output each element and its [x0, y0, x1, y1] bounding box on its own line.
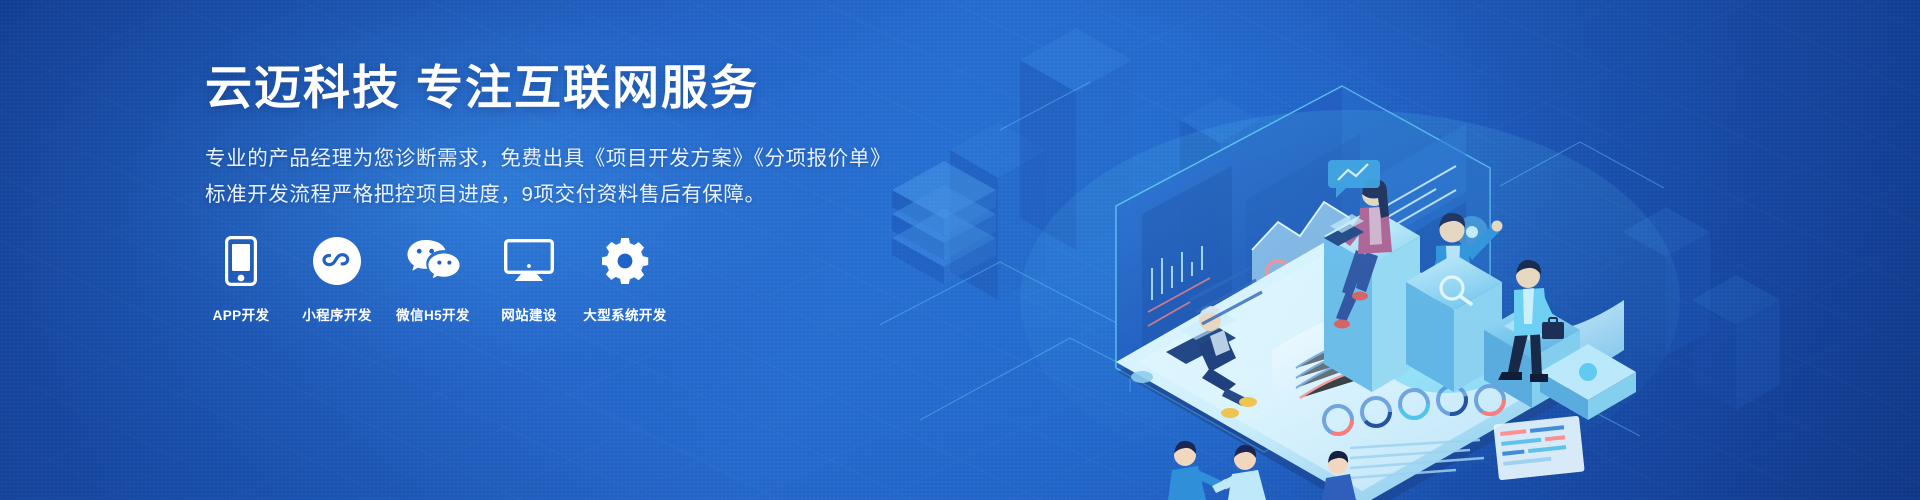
banner-copy: 云迈科技 专注互联网服务 专业的产品经理为您诊断需求，免费出具《项目开发方案》《…: [205, 62, 905, 214]
service-label: 网站建设: [501, 304, 557, 324]
service-label: 小程序开发: [302, 304, 372, 324]
mobile-phone-icon: [225, 232, 257, 290]
chat-bubble: [1328, 160, 1380, 198]
mini-program-icon: [312, 232, 362, 290]
wechat-chat-icon: [406, 232, 460, 290]
desktop-monitor-icon: [504, 232, 554, 290]
server-stack-block: [892, 161, 996, 284]
subtitle-line-2: 标准开发流程严格把控项目进度，9项交付资料售后有保障。: [205, 177, 905, 213]
small-figure-bottom: [1322, 451, 1356, 500]
hero-illustration: [880, 0, 1920, 500]
stair-blocks: [1324, 208, 1636, 420]
seated-person-pedestal: [1324, 160, 1392, 329]
dashboard-screen: [1116, 86, 1490, 452]
subtitle-line-1: 专业的产品经理为您诊断需求，免费出具《项目开发方案》《分项报价单》: [205, 141, 905, 177]
service-item-website[interactable]: 网站建设: [493, 232, 565, 324]
service-item-large-system[interactable]: 大型系统开发: [589, 232, 661, 324]
person-with-briefcase: [1498, 260, 1564, 382]
data-report-sheet: [1272, 300, 1624, 480]
two-people-talking: [1168, 441, 1266, 500]
promo-banner: 云迈科技 专注互联网服务 专业的产品经理为您诊断需求，免费出具《项目开发方案》《…: [0, 0, 1920, 500]
service-item-app[interactable]: APP开发: [205, 232, 277, 324]
magnifier-icon: [1441, 277, 1471, 304]
isometric-buildings: [950, 28, 1780, 410]
service-label: APP开发: [213, 304, 270, 324]
circuit-lines: [880, 82, 1664, 436]
page-title: 云迈科技 专注互联网服务: [205, 62, 905, 115]
tablet-device: [1116, 230, 1596, 500]
gear-settings-icon: [601, 232, 649, 290]
seated-person-laptop: [1166, 268, 1262, 418]
service-item-wechat-h5[interactable]: 微信H5开发: [397, 232, 469, 324]
service-label: 大型系统开发: [583, 304, 666, 324]
service-item-mini-program[interactable]: 小程序开发: [301, 232, 373, 324]
service-label: 微信H5开发: [396, 304, 470, 324]
standing-person: [1422, 213, 1503, 369]
service-list: APP开发 小程序开发 微信: [205, 232, 661, 324]
